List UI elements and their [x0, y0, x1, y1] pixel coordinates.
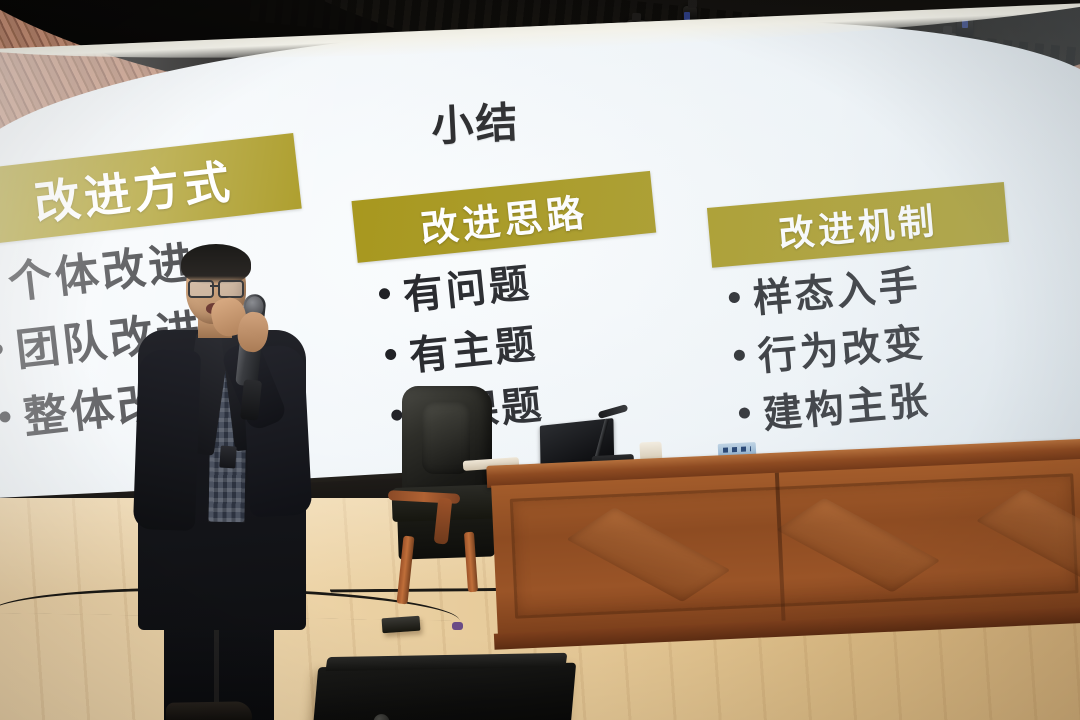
- eyeglasses-icon: [188, 280, 244, 295]
- presenter-badge: [219, 445, 236, 468]
- monitor-cabinet: [312, 663, 576, 720]
- presenter-hair: [181, 244, 251, 284]
- slide-title: 小结: [430, 89, 521, 154]
- wooden-podium-desk: [486, 438, 1080, 645]
- eyeglass-lens: [188, 280, 214, 298]
- bullet-icon: [728, 292, 740, 304]
- podium-diamond-motif: [776, 498, 940, 593]
- slide-column-3: 改进机制 样态入手 行为改变 建构主张: [707, 182, 1024, 441]
- bullet-icon: [378, 288, 390, 300]
- list-item-label: 有主题: [406, 311, 540, 382]
- list-item-label: 有问题: [400, 250, 534, 321]
- stage-monitor-speaker: [314, 653, 575, 720]
- cable-connector-box: [382, 616, 421, 634]
- podium-diamond-motif: [976, 489, 1080, 584]
- cable-plug: [452, 622, 463, 630]
- eyeglass-lens: [218, 280, 244, 298]
- podium-diamond-motif: [566, 507, 730, 602]
- bullet-icon: [0, 343, 3, 355]
- list-item-label: 建构主张: [760, 369, 932, 439]
- presenter-left-arm: [133, 349, 201, 531]
- bullet-icon: [733, 349, 745, 361]
- chair-backrest: [402, 386, 492, 496]
- screenshot-root: 小结 改进方式 个体改进 团队改进 整体改进: [0, 0, 1080, 720]
- presenter-with-microphone: [128, 250, 318, 720]
- bullet-icon: [738, 407, 750, 419]
- bullet-icon: [0, 410, 11, 422]
- presenter-leg-gap: [214, 630, 219, 710]
- presenter-shoe: [166, 701, 252, 720]
- column-list-3: 样态入手 行为改变 建构主张: [713, 247, 1025, 441]
- bullet-icon: [385, 348, 397, 360]
